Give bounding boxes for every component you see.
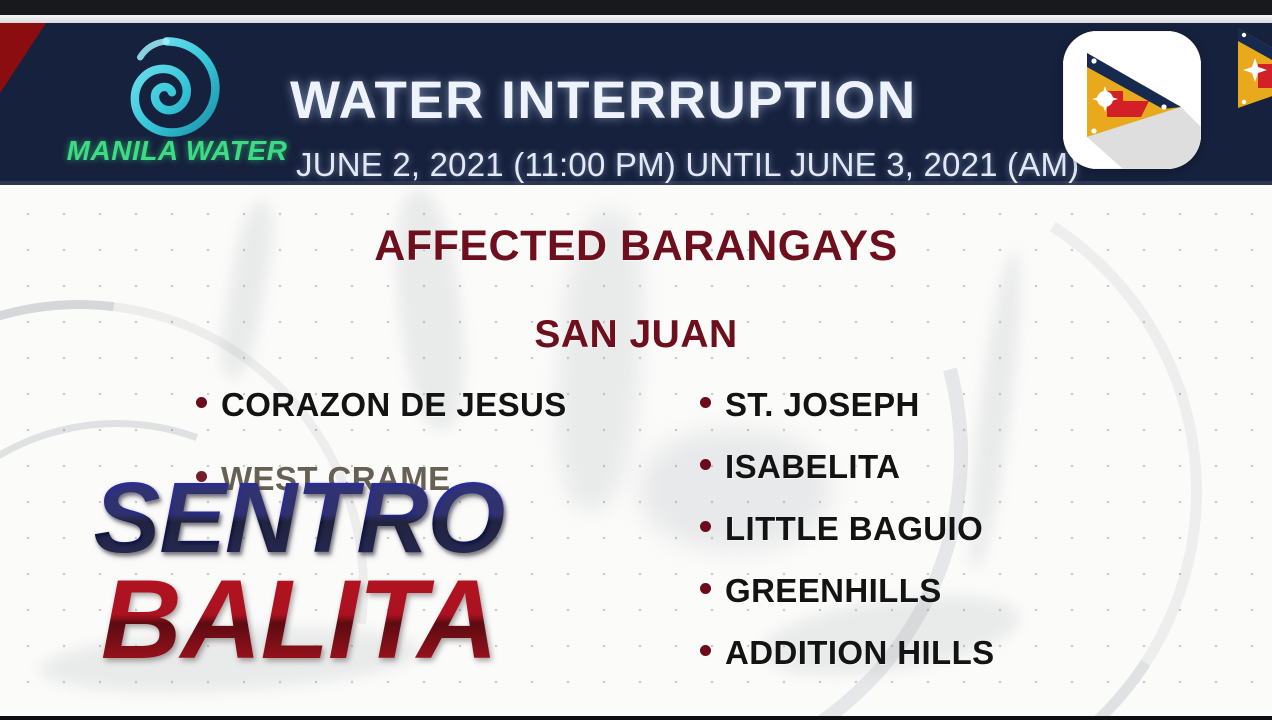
bullet-icon [700,645,711,656]
list-item: ADDITION HILLS [700,634,1150,672]
ptv-app-icon [1063,31,1201,169]
city-heading: SAN JUAN [0,313,1272,357]
advisory-schedule-subtitle: JUNE 2, 2021 (11:00 PM) UNTIL JUNE 3, 20… [296,146,1079,184]
list-item: WEST CRAME [196,460,666,498]
top-highlight-strip [0,15,1272,23]
ptv-flag-play-icon [1063,31,1201,169]
barangay-label: ST. JOSEPH [725,386,920,424]
list-item: LITTLE BAGUIO [700,510,1150,548]
barangay-label: CORAZON DE JESUS [221,386,567,424]
barangay-label: GREENHILLS [725,572,942,610]
list-item: GREENHILLS [700,572,1150,610]
barangay-label: ISABELITA [725,448,900,486]
bullet-icon [700,583,711,594]
water-swirl-icon [120,35,226,141]
advisory-title: WATER INTERRUPTION [290,70,917,131]
broadcast-screen: MANILA WATER WATER INTERRUPTION JUNE 2, … [0,0,1272,720]
barangay-list-left: CORAZON DE JESUS WEST CRAME [196,386,666,522]
list-item: ISABELITA [700,448,1150,486]
ptv-app-icon-secondary [1228,16,1272,146]
list-item: ST. JOSEPH [700,386,1150,424]
bullet-icon [196,397,207,408]
manila-water-logo: MANILA WATER [42,31,312,181]
top-letterbox-strip [0,0,1272,15]
barangay-label: WEST CRAME [221,460,451,498]
bottom-letterbox-strip [0,716,1272,720]
barangay-label: LITTLE BAGUIO [725,510,983,548]
bullet-icon [700,397,711,408]
barangay-list-right: ST. JOSEPH ISABELITA LITTLE BAGUIO GREEN… [700,386,1150,696]
bullet-icon [196,471,207,482]
ptv-flag-play-icon [1228,16,1272,146]
affected-barangays-heading: AFFECTED BARANGAYS [0,222,1272,271]
barangay-label: ADDITION HILLS [725,634,995,672]
list-item: CORAZON DE JESUS [196,386,666,424]
bullet-icon [700,459,711,470]
manila-water-wordmark: MANILA WATER [42,135,312,167]
corner-accent-triangle [0,23,46,93]
bullet-icon [700,521,711,532]
